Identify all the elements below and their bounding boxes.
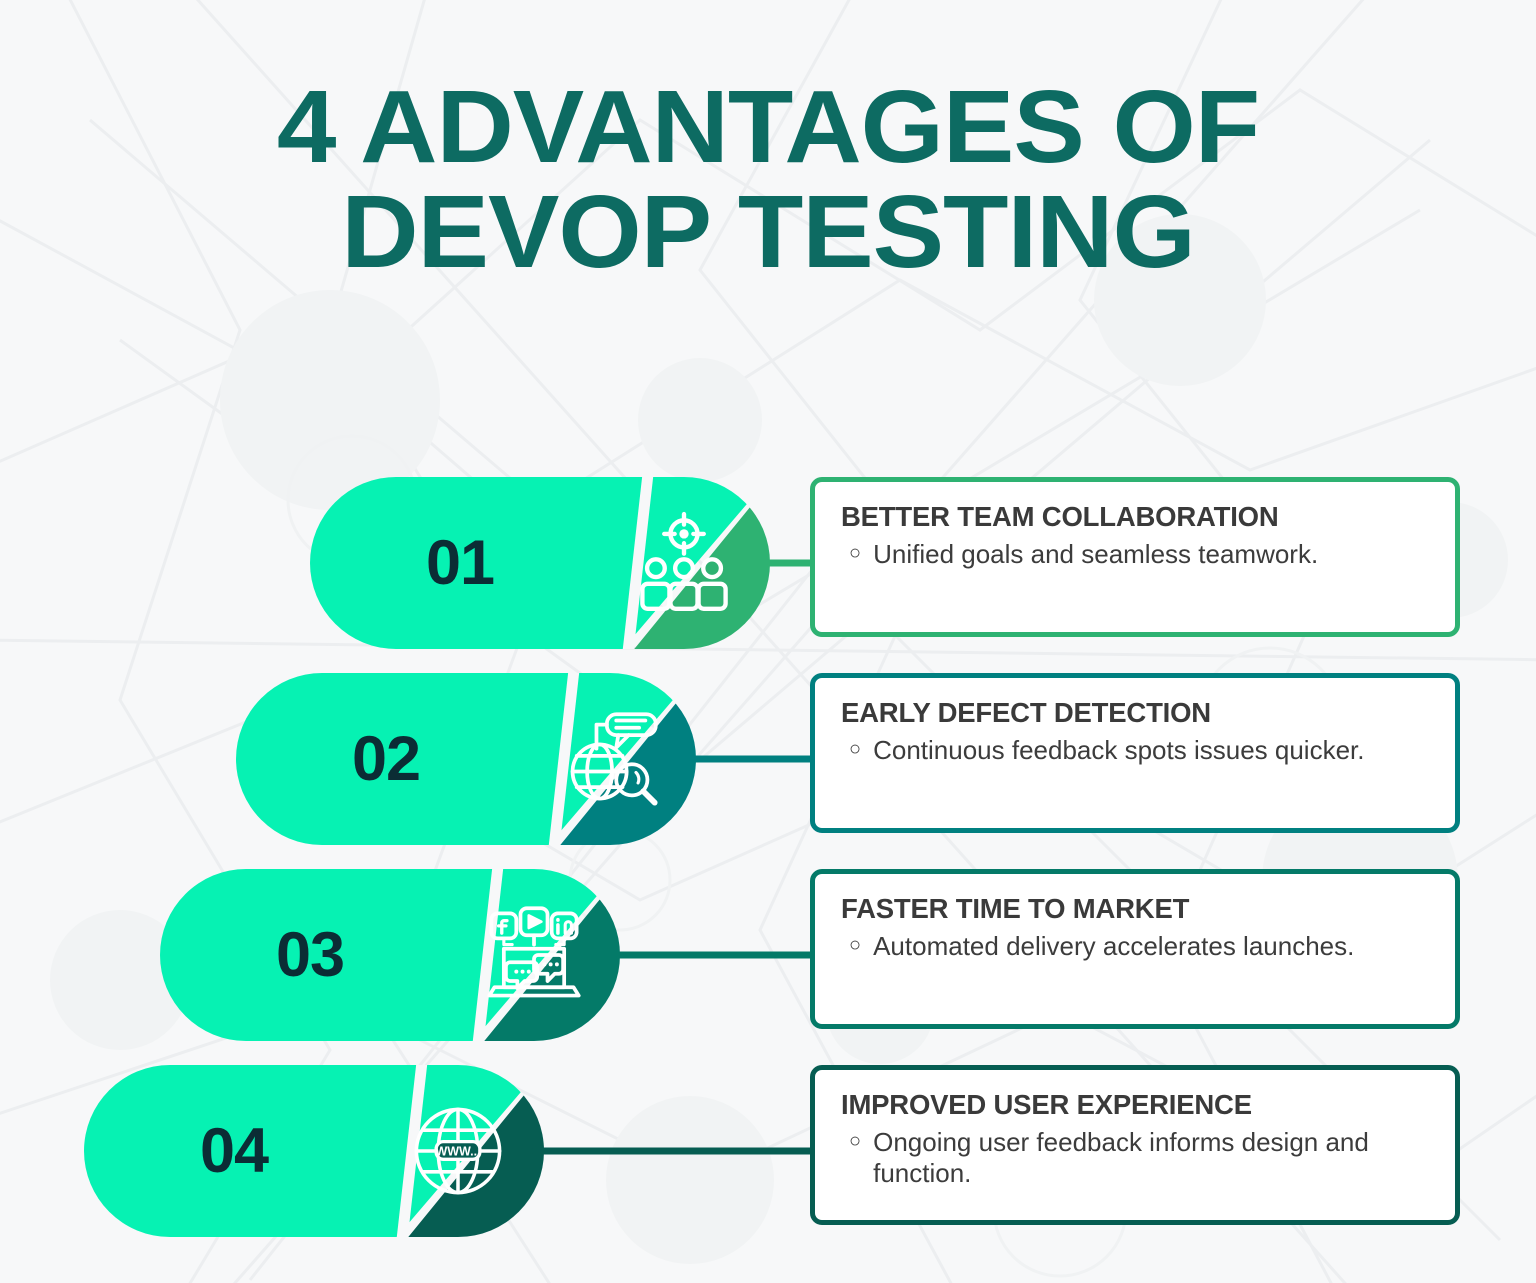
step-number-1: 01 [310,477,610,649]
step-pill-4[interactable]: 04 WWW... [84,1065,544,1237]
globe-search-feedback-icon [558,707,662,811]
advantage-row-2: 02 E [0,673,1536,845]
advantages-list: 01 BETTER TEAM [0,477,1536,1257]
bullet-marker-2: ○ [841,735,861,766]
card-body-4: ○ Ongoing user feedback informs design a… [841,1127,1429,1188]
bullet-marker-3: ○ [841,931,861,962]
advantage-row-3: 03 [0,869,1536,1041]
connector-line-3 [608,952,818,959]
advantage-card-4[interactable]: IMPROVED USER EXPERIENCE ○ Ongoing user … [810,1065,1460,1225]
title-line-1: 4 ADVANTAGES OF [0,74,1536,179]
card-text-4: Ongoing user feedback informs design and… [873,1127,1418,1188]
advantage-row-4: 04 WWW... IMPROVED USER EXPERIENCE ○ [0,1065,1536,1237]
step-number-4: 04 [84,1065,384,1237]
laptop-social-chat-icon [482,903,586,1007]
step-pill-3[interactable]: 03 [160,869,620,1041]
connector-line-2 [684,756,818,763]
card-body-3: ○ Automated delivery accelerates launche… [841,931,1429,962]
bullet-marker-4: ○ [841,1127,861,1188]
card-title-4: IMPROVED USER EXPERIENCE [841,1090,1429,1120]
card-body-1: ○ Unified goals and seamless teamwork. [841,539,1429,570]
advantage-card-3[interactable]: FASTER TIME TO MARKET ○ Automated delive… [810,869,1460,1029]
card-body-2: ○ Continuous feedback spots issues quick… [841,735,1429,766]
team-target-icon [632,511,736,615]
step-number-3: 03 [160,869,460,1041]
page-title: 4 ADVANTAGES OF DEVOP TESTING [0,74,1536,284]
svg-text:WWW...: WWW... [435,1144,480,1158]
card-text-2: Continuous feedback spots issues quicker… [873,735,1364,766]
step-pill-1[interactable]: 01 [310,477,770,649]
advantage-card-1[interactable]: BETTER TEAM COLLABORATION ○ Unified goal… [810,477,1460,637]
step-number-2: 02 [236,673,536,845]
title-line-2: DEVOP TESTING [0,179,1536,284]
advantage-row-1: 01 BETTER TEAM [0,477,1536,649]
advantage-card-2[interactable]: EARLY DEFECT DETECTION ○ Continuous feed… [810,673,1460,833]
globe-www-icon: WWW... [406,1099,510,1203]
card-text-1: Unified goals and seamless teamwork. [873,539,1318,570]
card-text-3: Automated delivery accelerates launches. [873,931,1354,962]
card-title-2: EARLY DEFECT DETECTION [841,698,1429,728]
connector-line-4 [532,1148,818,1155]
bullet-marker-1: ○ [841,539,861,570]
card-title-3: FASTER TIME TO MARKET [841,894,1429,924]
card-title-1: BETTER TEAM COLLABORATION [841,502,1429,532]
step-pill-2[interactable]: 02 [236,673,696,845]
